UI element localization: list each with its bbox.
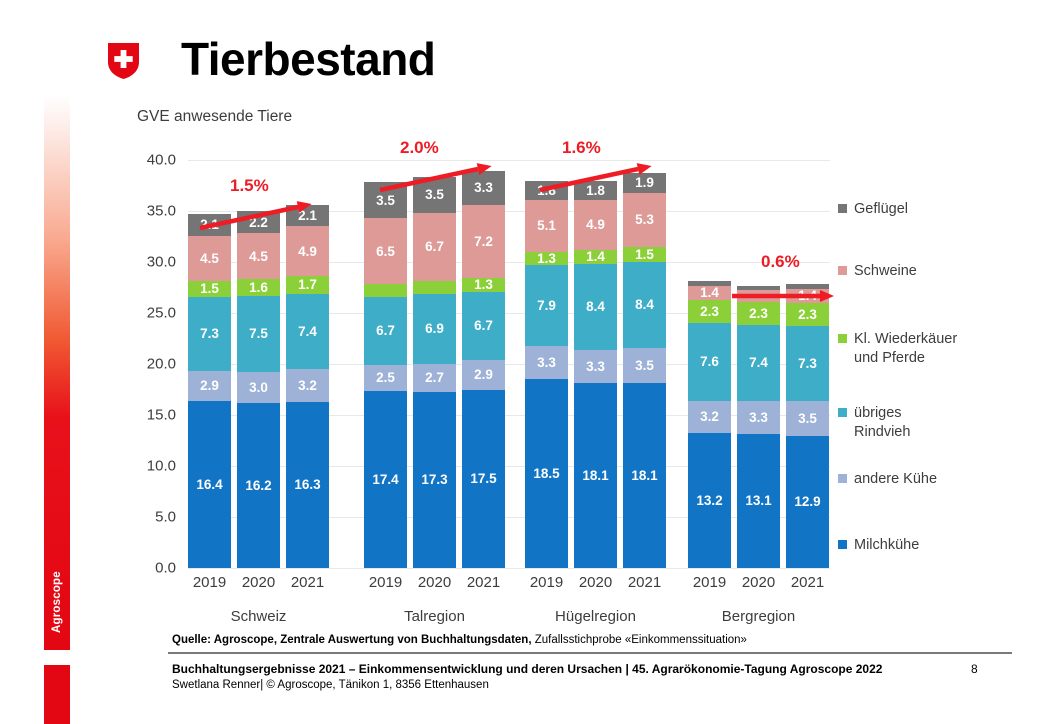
swiss-confederation-shield-icon: [108, 43, 139, 79]
legend-label: Geflügel: [854, 200, 908, 219]
gridline: [188, 517, 830, 518]
bar-segment: 3.3: [574, 350, 617, 384]
y-axis-tick-label: 20.0: [147, 356, 176, 373]
footer-subtitle: Swetlana Renner| © Agroscope, Tänikon 1,…: [172, 679, 489, 691]
y-axis-tick-label: 35.0: [147, 203, 176, 220]
bar-segment: 7.6: [688, 323, 731, 401]
bar-stack: 12.93.57.32.31.4: [786, 284, 829, 568]
bar-segment: 5.1: [525, 200, 568, 252]
bar-segment: 3.3: [525, 346, 568, 380]
bar-segment: 1.6: [237, 279, 280, 295]
bar-segment: 2.3: [688, 300, 731, 323]
page-title: Tierbestand: [181, 36, 435, 82]
gridline: [188, 364, 830, 365]
bar-segment: 7.3: [188, 297, 231, 371]
bar-stack: 17.42.56.76.53.5: [364, 182, 407, 568]
agroscope-sidebar-block: [44, 665, 70, 724]
source-note: Quelle: Agroscope, Zentrale Auswertung v…: [172, 634, 747, 646]
bar-stack: 13.13.37.42.3: [737, 286, 780, 569]
x-axis-region-label: Talregion: [364, 608, 505, 625]
legend-item[interactable]: Kl. Wiederkäuer und Pferde: [838, 330, 957, 367]
bar-segment: 1.3: [525, 252, 568, 265]
bar-segment: 6.7: [364, 297, 407, 365]
bar-segment: 3.0: [237, 372, 280, 403]
footer-title: Buchhaltungsergebnisse 2021 – Einkommens…: [172, 662, 882, 676]
bar-stack: 18.53.37.91.35.11.8: [525, 181, 568, 568]
x-axis-year-label: 2021: [786, 574, 829, 591]
bar-segment: 6.9: [413, 294, 456, 364]
legend-label: übriges Rindvieh: [854, 404, 910, 441]
agroscope-sidebar-label: Agroscope: [44, 555, 70, 650]
x-axis-year-label: 2020: [574, 574, 617, 591]
bar-segment: 3.3: [737, 401, 780, 435]
legend-label: Milchkühe: [854, 536, 919, 555]
bar-segment: [413, 281, 456, 293]
bar-stack: 17.52.96.71.37.23.3: [462, 171, 505, 568]
legend-swatch-icon: [838, 540, 847, 549]
x-axis-year-label: 2019: [688, 574, 731, 591]
growth-percent-label: 0.6%: [761, 252, 800, 272]
bar-segment: 2.5: [364, 365, 407, 391]
bar-segment: 4.5: [188, 236, 231, 282]
chart-axis-title: GVE anwesende Tiere: [137, 108, 292, 126]
bar-segment: 18.1: [574, 383, 617, 568]
bar-segment: 16.2: [237, 403, 280, 568]
x-axis-year-label: 2021: [286, 574, 329, 591]
bar-segment: 4.9: [574, 200, 617, 250]
bar-segment: 13.2: [688, 433, 731, 568]
bar-segment: 6.5: [364, 218, 407, 284]
gridline: [188, 415, 830, 416]
x-axis-region-label: Bergregion: [688, 608, 829, 625]
bar-segment: 18.1: [623, 383, 666, 568]
bar-segment: 8.4: [623, 262, 666, 348]
bar-segment: 7.5: [237, 296, 280, 373]
legend-swatch-icon: [838, 408, 847, 417]
x-axis-year-label: 2019: [525, 574, 568, 591]
x-axis-year-label: 2021: [623, 574, 666, 591]
bar-segment: 17.4: [364, 391, 407, 568]
bar-segment: 4.5: [237, 233, 280, 279]
growth-arrow-icon: [200, 196, 322, 240]
y-axis-tick-label: 40.0: [147, 152, 176, 169]
bar-stack: 17.32.76.96.73.5: [413, 177, 456, 568]
footer-divider: [168, 652, 1012, 654]
bar-segment: 7.9: [525, 265, 568, 346]
bar-segment: 17.5: [462, 390, 505, 569]
bar-segment: 6.7: [413, 213, 456, 281]
legend-label: Schweine: [854, 262, 917, 281]
bar-segment: 1.7: [286, 276, 329, 293]
y-axis-tick-label: 25.0: [147, 305, 176, 322]
bar-segment: [364, 284, 407, 296]
bar-stack: 16.33.27.41.74.92.1: [286, 205, 329, 568]
bar-segment: 8.4: [574, 264, 617, 350]
legend-label: andere Kühe: [854, 470, 937, 489]
source-note-rest: Zufallsstichprobe «Einkommenssituation»: [532, 634, 747, 646]
bar-segment: 13.1: [737, 434, 780, 568]
bar-stack: 16.42.97.31.54.52.1: [188, 214, 231, 568]
growth-arrow-icon: [732, 288, 844, 308]
bar-segment: 17.3: [413, 392, 456, 568]
bar-segment: 7.4: [737, 325, 780, 400]
legend-item[interactable]: Schweine: [838, 262, 917, 281]
bar-segment: 18.5: [525, 379, 568, 568]
x-axis-year-label: 2021: [462, 574, 505, 591]
gridline: [188, 568, 830, 569]
x-axis-year-label: 2020: [737, 574, 780, 591]
legend-swatch-icon: [838, 266, 847, 275]
bar-segment: 7.2: [462, 205, 505, 278]
gridline: [188, 262, 830, 263]
legend-label: Kl. Wiederkäuer und Pferde: [854, 330, 957, 367]
legend-item[interactable]: Milchkühe: [838, 536, 919, 555]
growth-percent-label: 1.6%: [562, 138, 601, 158]
bar-segment: 1.3: [462, 278, 505, 291]
bar-segment: 2.9: [462, 360, 505, 390]
growth-arrow-icon: [540, 158, 662, 202]
x-axis-year-label: 2020: [413, 574, 456, 591]
gridline: [188, 160, 830, 161]
legend-item[interactable]: Geflügel: [838, 200, 908, 219]
source-note-bold: Quelle: Agroscope, Zentrale Auswertung v…: [172, 634, 532, 646]
x-axis-year-label: 2019: [188, 574, 231, 591]
bar-segment: 7.4: [286, 294, 329, 369]
bar-segment: 1.4: [688, 286, 731, 300]
chart-container: 0.05.010.015.020.025.030.035.040.0 16.42…: [137, 130, 897, 630]
legend-swatch-icon: [838, 474, 847, 483]
legend-item[interactable]: andere Kühe: [838, 470, 937, 489]
bar-segment: 7.3: [786, 326, 829, 400]
bar-segment: 1.5: [623, 247, 666, 262]
legend-swatch-icon: [838, 204, 847, 213]
legend-item[interactable]: übriges Rindvieh: [838, 404, 910, 441]
bar-segment: 1.4: [574, 250, 617, 264]
bar-segment: 2.7: [413, 364, 456, 392]
bar-segment: 3.5: [623, 348, 666, 384]
bar-stack: 16.23.07.51.64.52.2: [237, 211, 280, 568]
bar-segment: 3.5: [786, 401, 829, 437]
bar-segment: 2.9: [188, 371, 231, 401]
y-axis-tick-label: 5.0: [155, 509, 176, 526]
bar-segment: 16.4: [188, 401, 231, 568]
gridline: [188, 466, 830, 467]
growth-percent-label: 2.0%: [400, 138, 439, 158]
bar-segment: 6.7: [462, 292, 505, 360]
bar-segment: 1.5: [188, 281, 231, 296]
bar-segment: 3.2: [286, 369, 329, 402]
bar-segment: 16.3: [286, 402, 329, 568]
growth-percent-label: 1.5%: [230, 176, 269, 196]
y-axis-tick-label: 0.0: [155, 560, 176, 577]
bar-stack: 13.23.27.62.31.4: [688, 281, 731, 568]
y-axis-tick-label: 10.0: [147, 458, 176, 475]
bar-segment: 12.9: [786, 436, 829, 568]
x-axis-region-label: Schweiz: [188, 608, 329, 625]
chart-plot-area: 0.05.010.015.020.025.030.035.040.0 16.42…: [188, 160, 830, 568]
bar-segment: 3.2: [688, 401, 731, 434]
x-axis-year-label: 2019: [364, 574, 407, 591]
bar-stack: 18.13.58.41.55.31.9: [623, 173, 666, 568]
x-axis-year-label: 2020: [237, 574, 280, 591]
x-axis-region-label: Hügelregion: [525, 608, 666, 625]
gridline: [188, 313, 830, 314]
growth-arrow-icon: [380, 158, 502, 202]
y-axis-tick-label: 15.0: [147, 407, 176, 424]
y-axis-tick-label: 30.0: [147, 254, 176, 271]
legend-swatch-icon: [838, 334, 847, 343]
page-number: 8: [971, 662, 978, 676]
bar-stack: 18.13.38.41.44.91.8: [574, 181, 617, 568]
